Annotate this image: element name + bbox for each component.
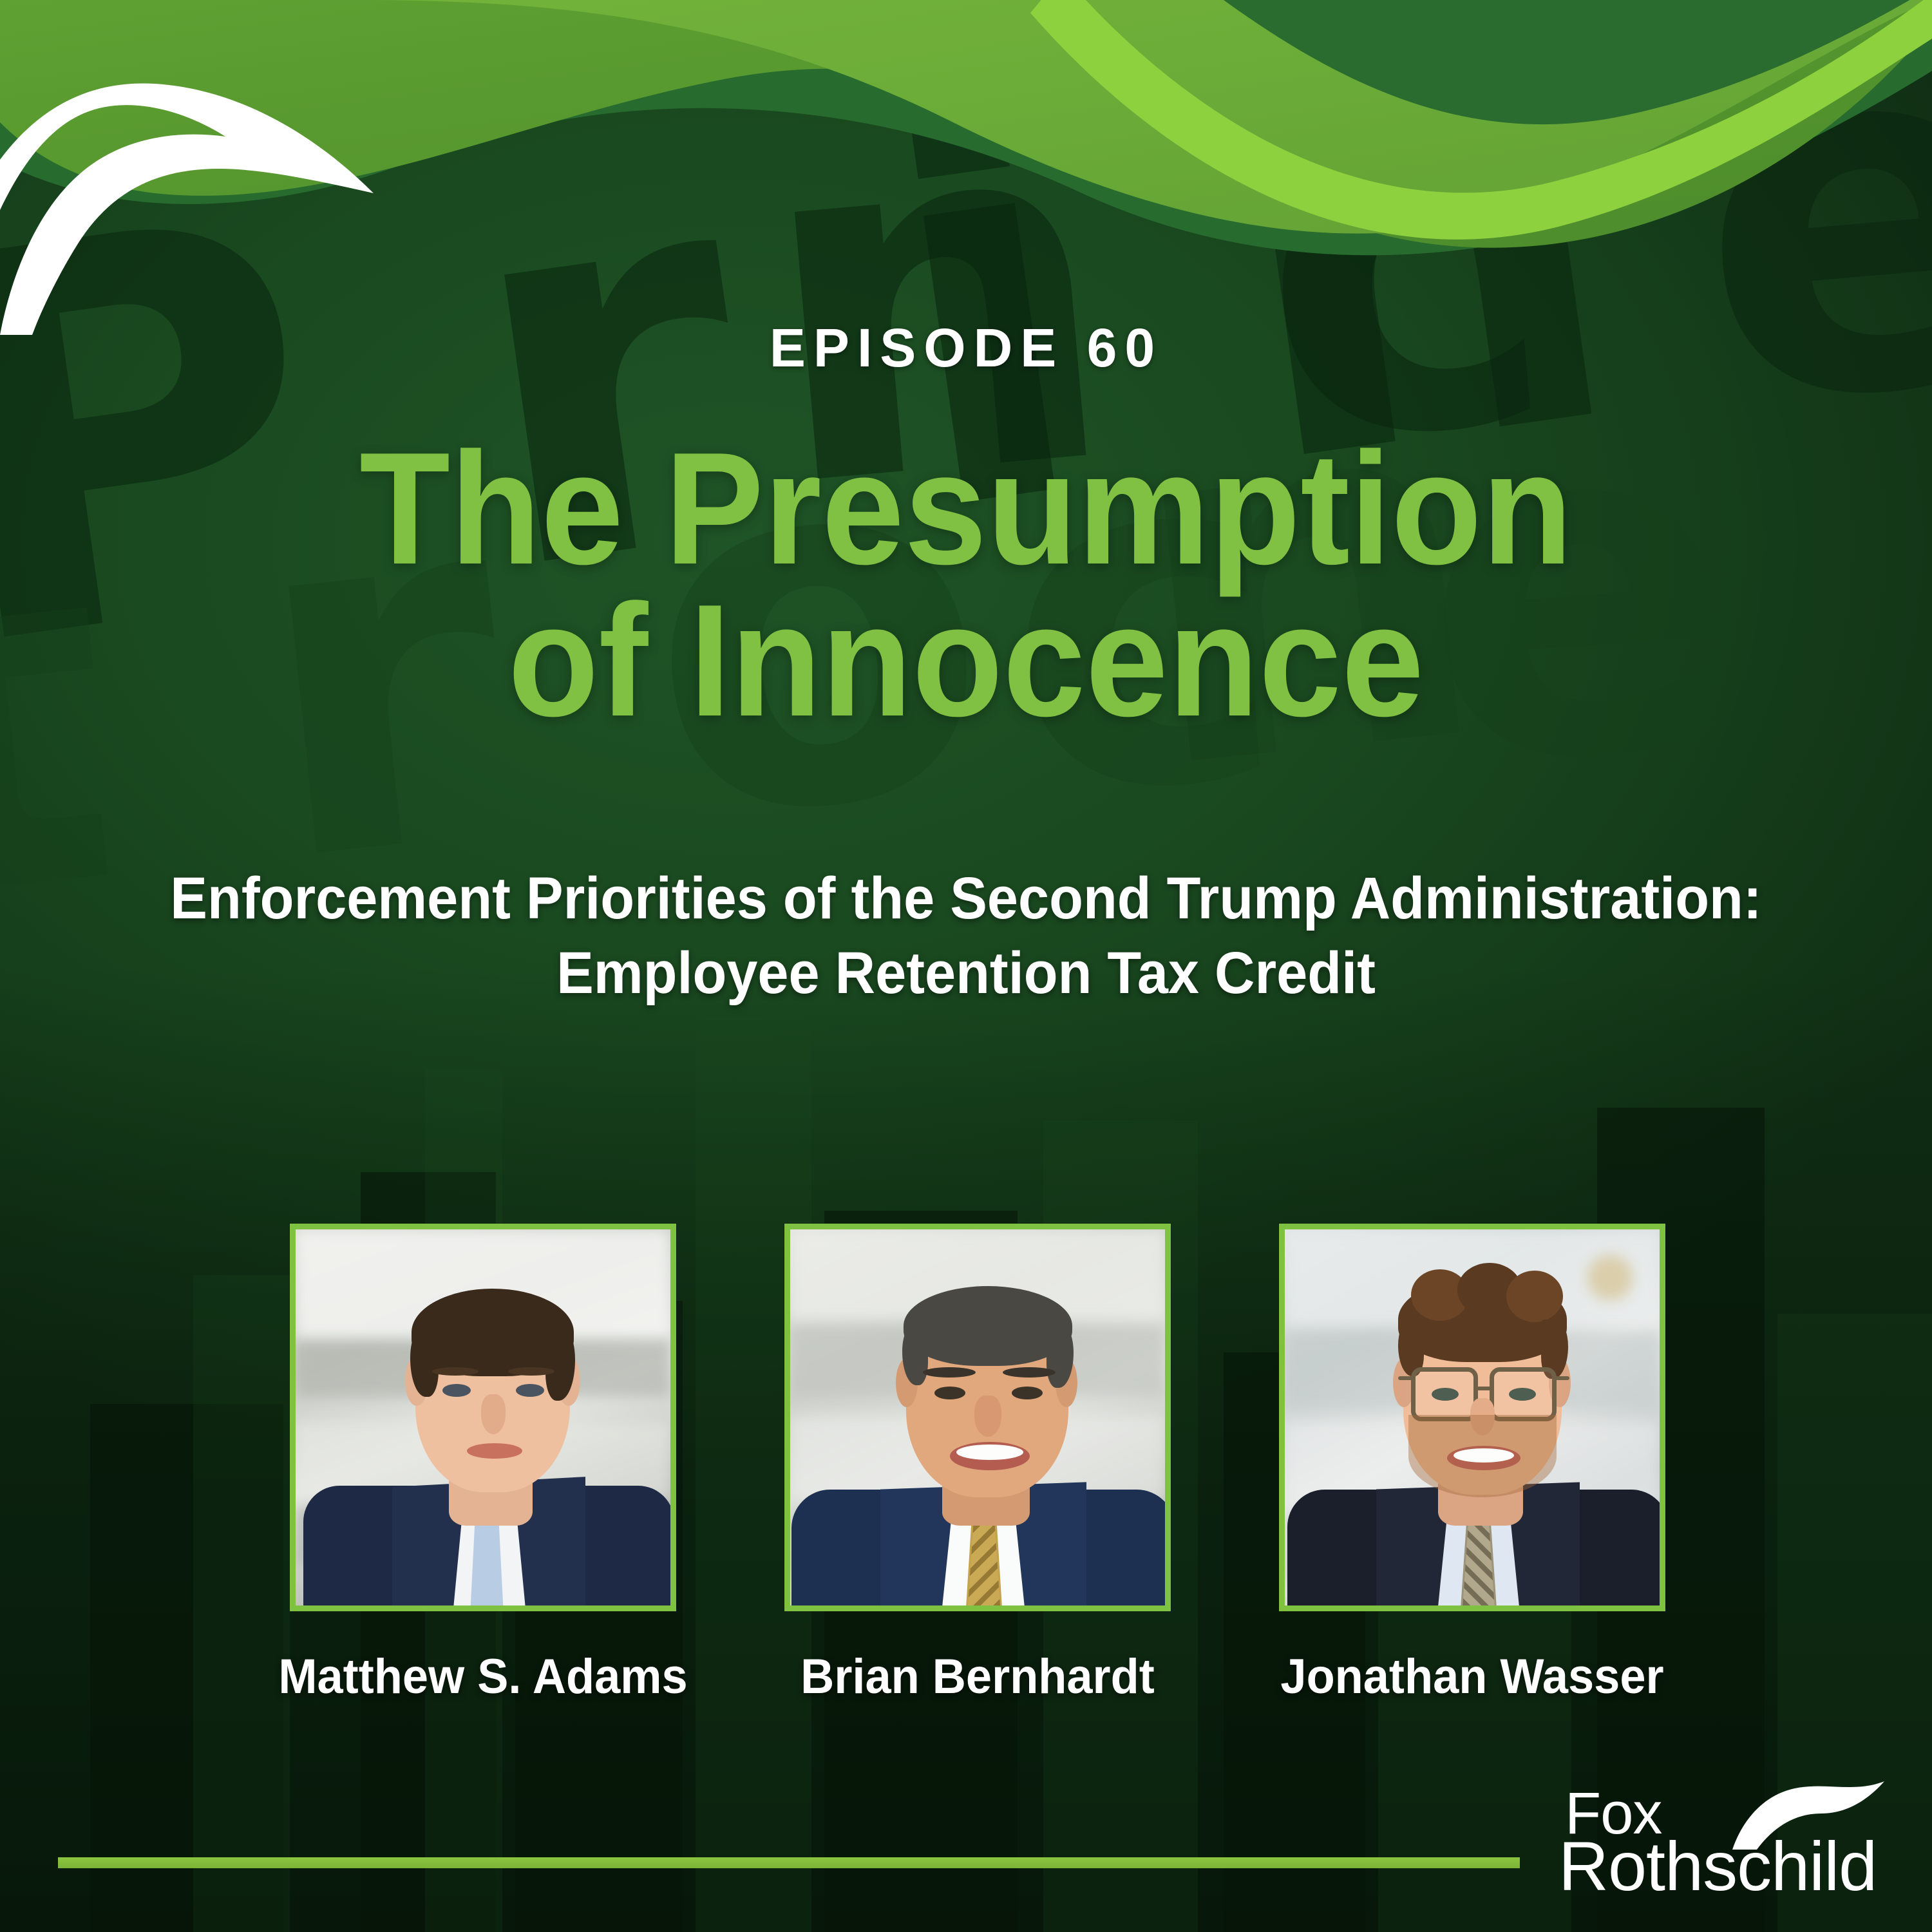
speaker-photo-frame (290, 1224, 676, 1611)
footer-divider (58, 1857, 1520, 1868)
page-subtitle: Enforcement Priorities of the Second Tru… (58, 862, 1874, 1011)
subtitle-line-1: Enforcement Priorities of the Second Tru… (58, 862, 1874, 936)
headshot-image (1285, 1229, 1660, 1605)
page-title: The Presumption of Innocence (68, 433, 1864, 736)
fox-swoosh-icon (0, 0, 554, 335)
fox-rothschild-logo: Fox Rothschild (1558, 1784, 1906, 1919)
speaker-name: Jonathan Wasser (1252, 1649, 1692, 1705)
headshot-image (790, 1229, 1165, 1605)
speaker-photo-frame (1279, 1224, 1665, 1611)
speaker-photo-frame (784, 1224, 1171, 1611)
headshot-image (296, 1229, 670, 1605)
speaker-card: Jonathan Wasser (1279, 1224, 1665, 1611)
subtitle-line-2: Employee Retention Tax Credit (58, 936, 1874, 1011)
speaker-card: Matthew S. Adams (290, 1224, 676, 1611)
speaker-row: Matthew S. Adams (0, 1224, 1932, 1726)
title-line-1: The Presumption (68, 433, 1864, 585)
logo-line-rothschild: Rothschild (1558, 1832, 1877, 1901)
episode-label: EPISODE 60 (0, 317, 1932, 379)
title-line-2: of Innocence (68, 585, 1864, 737)
podcast-cover-art: P r i n t r o n n c e c e (0, 0, 1932, 1932)
speaker-name: Brian Bernhardt (757, 1649, 1198, 1705)
speaker-name: Matthew S. Adams (263, 1649, 703, 1705)
speaker-card: Brian Bernhardt (784, 1224, 1171, 1611)
